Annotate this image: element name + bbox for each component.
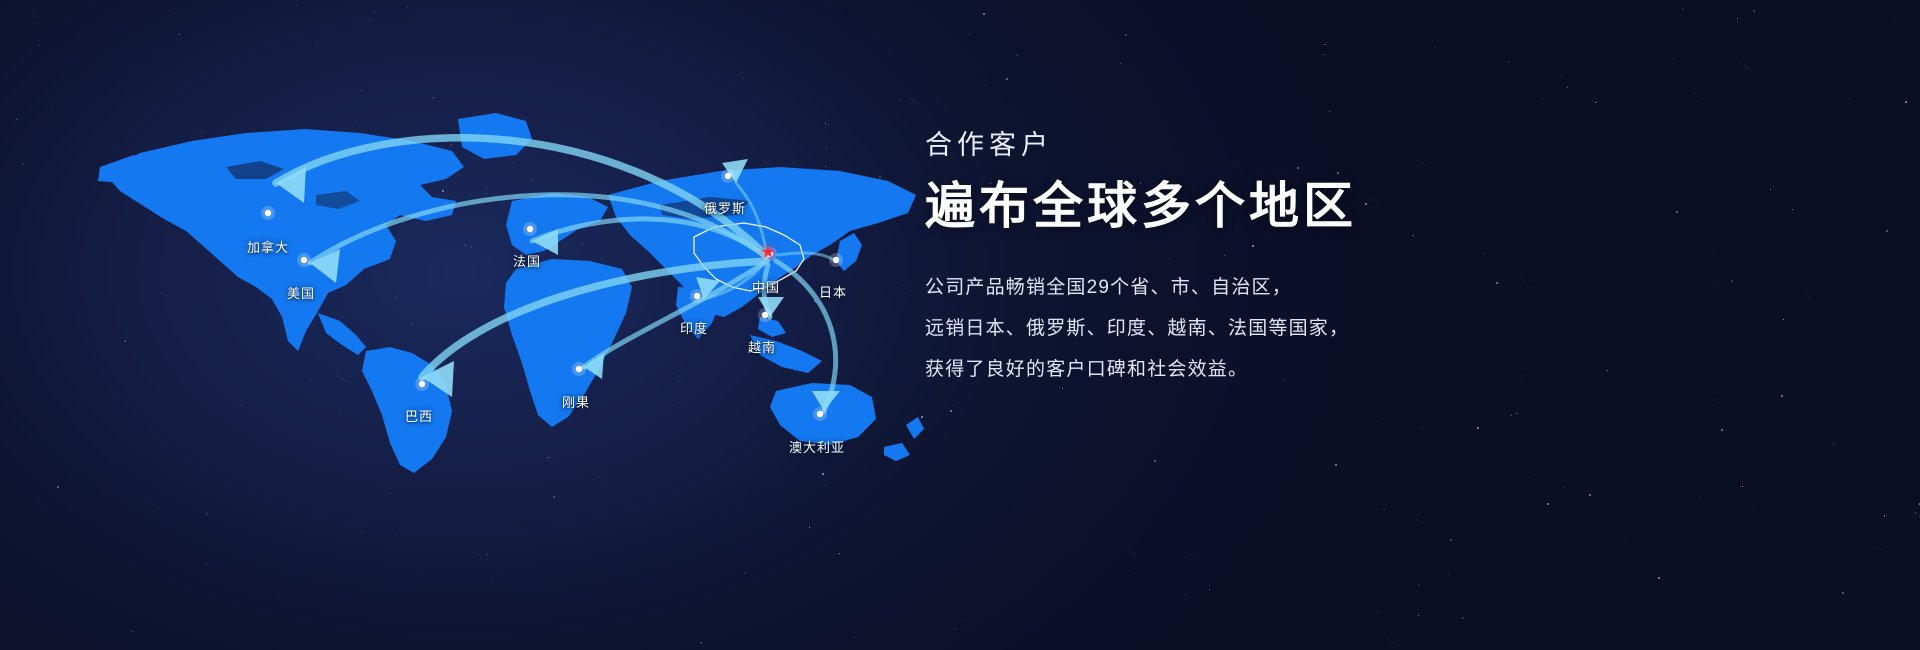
city-label-china: 中国 bbox=[752, 277, 780, 296]
description-paragraph: 公司产品畅销全国29个省、市、自治区， 远销日本、俄罗斯、印度、越南、法国等国家… bbox=[925, 267, 1565, 390]
city-label-canada: 加拿大 bbox=[247, 237, 289, 256]
world-map-landmasses bbox=[60, 55, 940, 475]
city-label-brazil: 巴西 bbox=[405, 406, 433, 425]
page-title: 遍布全球多个地区 bbox=[925, 181, 1565, 231]
city-label-france: 法国 bbox=[513, 251, 541, 270]
hero-banner: 加拿大美国巴西法国俄罗斯中国日本印度越南刚果澳大利亚★ 合作客户 遍布全球多个地… bbox=[0, 0, 1920, 650]
hero-copy: 合作客户 遍布全球多个地区 公司产品畅销全国29个省、市、自治区， 远销日本、俄… bbox=[925, 132, 1565, 390]
world-map: 加拿大美国巴西法国俄罗斯中国日本印度越南刚果澳大利亚★ bbox=[60, 55, 940, 475]
red-star-icon: ★ bbox=[760, 244, 775, 261]
city-label-vietnam: 越南 bbox=[748, 337, 776, 356]
city-label-congo: 刚果 bbox=[562, 392, 590, 411]
eyebrow-text: 合作客户 bbox=[925, 132, 1565, 159]
description-line-1: 公司产品畅销全国29个省、市、自治区， bbox=[925, 267, 1565, 308]
city-label-australia: 澳大利亚 bbox=[789, 437, 845, 456]
city-label-japan: 日本 bbox=[819, 282, 847, 301]
city-label-russia: 俄罗斯 bbox=[704, 198, 746, 217]
description-line-3: 获得了良好的客户口碑和社会效益。 bbox=[925, 349, 1565, 390]
city-label-usa: 美国 bbox=[287, 283, 315, 302]
city-label-india: 印度 bbox=[680, 318, 708, 337]
description-line-2: 远销日本、俄罗斯、印度、越南、法国等国家， bbox=[925, 308, 1565, 349]
